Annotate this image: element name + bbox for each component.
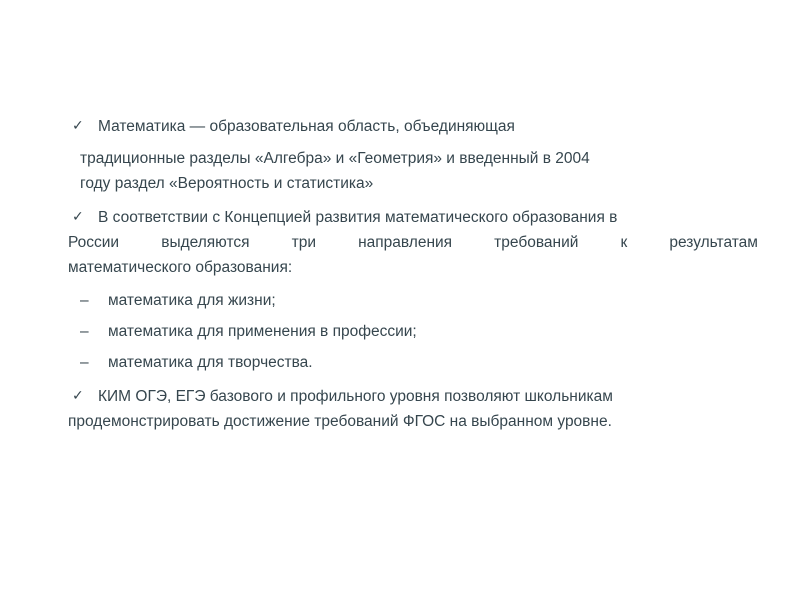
- paragraph-2-line-3: математического образования:: [68, 255, 760, 280]
- bullet-paragraph-1: ✓ Математика — образовательная область, …: [68, 114, 760, 196]
- paragraph-3-line-1: КИМ ОГЭ, ЕГЭ базового и профильного уров…: [98, 388, 613, 405]
- checkmark-icon: ✓: [72, 205, 90, 230]
- list-item-label: математика для творчества.: [108, 354, 313, 371]
- paragraph-2-line-1-row: ✓ В соответствии с Концепцией развития м…: [68, 205, 760, 230]
- paragraph-2-word: выделяются: [161, 230, 249, 255]
- paragraph-3-line-2: продемонстрировать достижение требований…: [68, 409, 760, 434]
- slide-canvas: ✓ Математика — образовательная область, …: [0, 0, 800, 600]
- paragraph-2-word: требований: [494, 230, 578, 255]
- checkmark-icon: ✓: [72, 114, 90, 139]
- list-item: – математика для применения в профессии;: [68, 319, 760, 344]
- dash-icon: –: [80, 288, 98, 313]
- paragraph-2-word: к: [621, 230, 628, 255]
- paragraph-2-line-2: России выделяются три направления требов…: [68, 230, 758, 255]
- paragraph-1-line-1: Математика — образовательная область, об…: [98, 118, 515, 135]
- paragraph-2-line-1: В соответствии с Концепцией развития мат…: [98, 209, 617, 226]
- bullet-paragraph-3: ✓ КИМ ОГЭ, ЕГЭ базового и профильного ур…: [68, 384, 760, 434]
- paragraph-1-line-3: году раздел «Вероятность и статистика»: [68, 171, 760, 196]
- checkmark-icon: ✓: [72, 384, 90, 409]
- list-item: – математика для жизни;: [68, 288, 760, 313]
- paragraph-2-word: России: [68, 230, 119, 255]
- paragraph-2-word: результатам: [669, 230, 758, 255]
- list-item-label: математика для жизни;: [108, 292, 276, 309]
- dash-icon: –: [80, 350, 98, 375]
- paragraph-2-word: направления: [358, 230, 452, 255]
- dash-list: – математика для жизни; – математика для…: [68, 288, 760, 375]
- paragraph-1-line-1-row: ✓ Математика — образовательная область, …: [68, 114, 760, 139]
- paragraph-1-line-2: традиционные разделы «Алгебра» и «Геомет…: [68, 146, 760, 171]
- bullet-paragraph-2: ✓ В соответствии с Концепцией развития м…: [68, 205, 760, 280]
- list-item-label: математика для применения в профессии;: [108, 323, 417, 340]
- paragraph-2-word: три: [292, 230, 316, 255]
- dash-icon: –: [80, 319, 98, 344]
- slide-content-block: ✓ Математика — образовательная область, …: [68, 114, 760, 434]
- list-item: – математика для творчества.: [68, 350, 760, 375]
- paragraph-3-line-1-row: ✓ КИМ ОГЭ, ЕГЭ базового и профильного ур…: [68, 384, 760, 409]
